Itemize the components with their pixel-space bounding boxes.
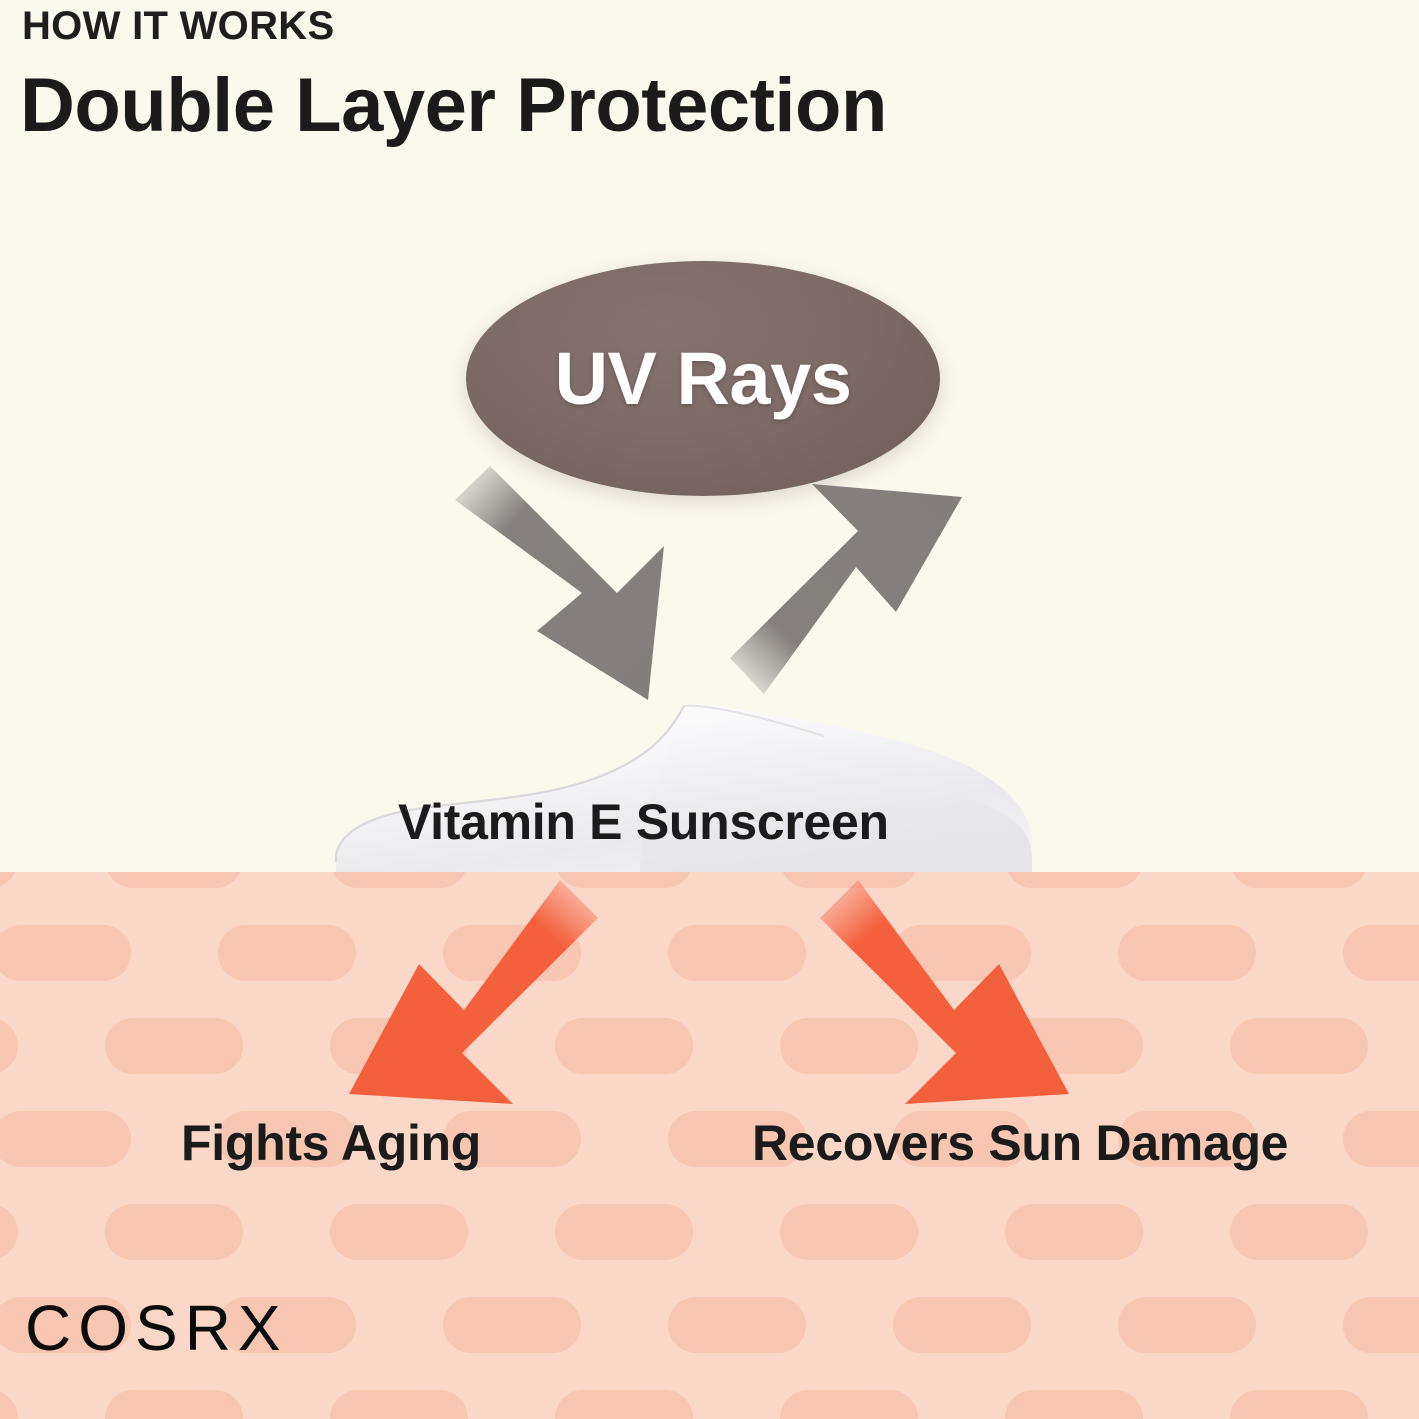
skin-cell <box>0 1018 18 1074</box>
skin-cell <box>330 872 468 888</box>
skin-cell <box>0 1111 131 1167</box>
skin-cell <box>1118 925 1256 981</box>
uv-rays-ellipse: UV Rays <box>466 261 940 496</box>
skin-cell <box>1230 872 1368 888</box>
skin-cell <box>668 1297 806 1353</box>
skin-cell <box>1005 1018 1143 1074</box>
skin-cell <box>780 1390 918 1419</box>
sunscreen-layer-label: Vitamin E Sunscreen <box>398 793 889 851</box>
skin-cell <box>893 1297 1031 1353</box>
skin-cell <box>443 925 581 981</box>
skin-cell <box>555 1204 693 1260</box>
skin-cell <box>1343 1297 1419 1353</box>
skin-cell <box>780 872 918 888</box>
skin-cell <box>330 1018 468 1074</box>
skin-cell <box>330 1204 468 1260</box>
infographic-canvas: HOW IT WORKS Double Layer Protection UV … <box>0 0 1419 1419</box>
skin-cell <box>1005 1390 1143 1419</box>
skin-cell <box>105 1390 243 1419</box>
skin-cell <box>1005 1204 1143 1260</box>
skin-cell <box>0 1390 18 1419</box>
skin-cell <box>555 1018 693 1074</box>
skin-cell <box>555 1390 693 1419</box>
skin-cell <box>1230 1204 1368 1260</box>
eyebrow-label: HOW IT WORKS <box>22 4 334 49</box>
skin-cell <box>1230 1390 1368 1419</box>
skin-cell <box>893 925 1031 981</box>
skin-cell <box>1118 1297 1256 1353</box>
skin-cell <box>1343 1111 1419 1167</box>
skin-cell <box>105 872 243 888</box>
skin-cell <box>1343 925 1419 981</box>
skin-cell <box>780 1018 918 1074</box>
uv-rays-label: UV Rays <box>466 261 940 496</box>
skin-cell <box>0 872 18 888</box>
skin-cell <box>1230 1018 1368 1074</box>
skin-cell <box>330 1390 468 1419</box>
skin-cell <box>105 1204 243 1260</box>
skin-cell <box>668 925 806 981</box>
benefit-label-recovers-sun-damage: Recovers Sun Damage <box>752 1114 1288 1172</box>
cosrx-logo: COSRX <box>25 1291 288 1365</box>
skin-cell <box>218 925 356 981</box>
skin-cell <box>1005 872 1143 888</box>
skin-cell <box>780 1204 918 1260</box>
skin-cell <box>555 872 693 888</box>
benefit-label-fights-aging: Fights Aging <box>181 1114 481 1172</box>
skin-cell <box>443 1297 581 1353</box>
skin-cell <box>105 1018 243 1074</box>
skin-cell <box>0 1204 18 1260</box>
page-title: Double Layer Protection <box>20 62 887 149</box>
skin-cell <box>0 925 131 981</box>
